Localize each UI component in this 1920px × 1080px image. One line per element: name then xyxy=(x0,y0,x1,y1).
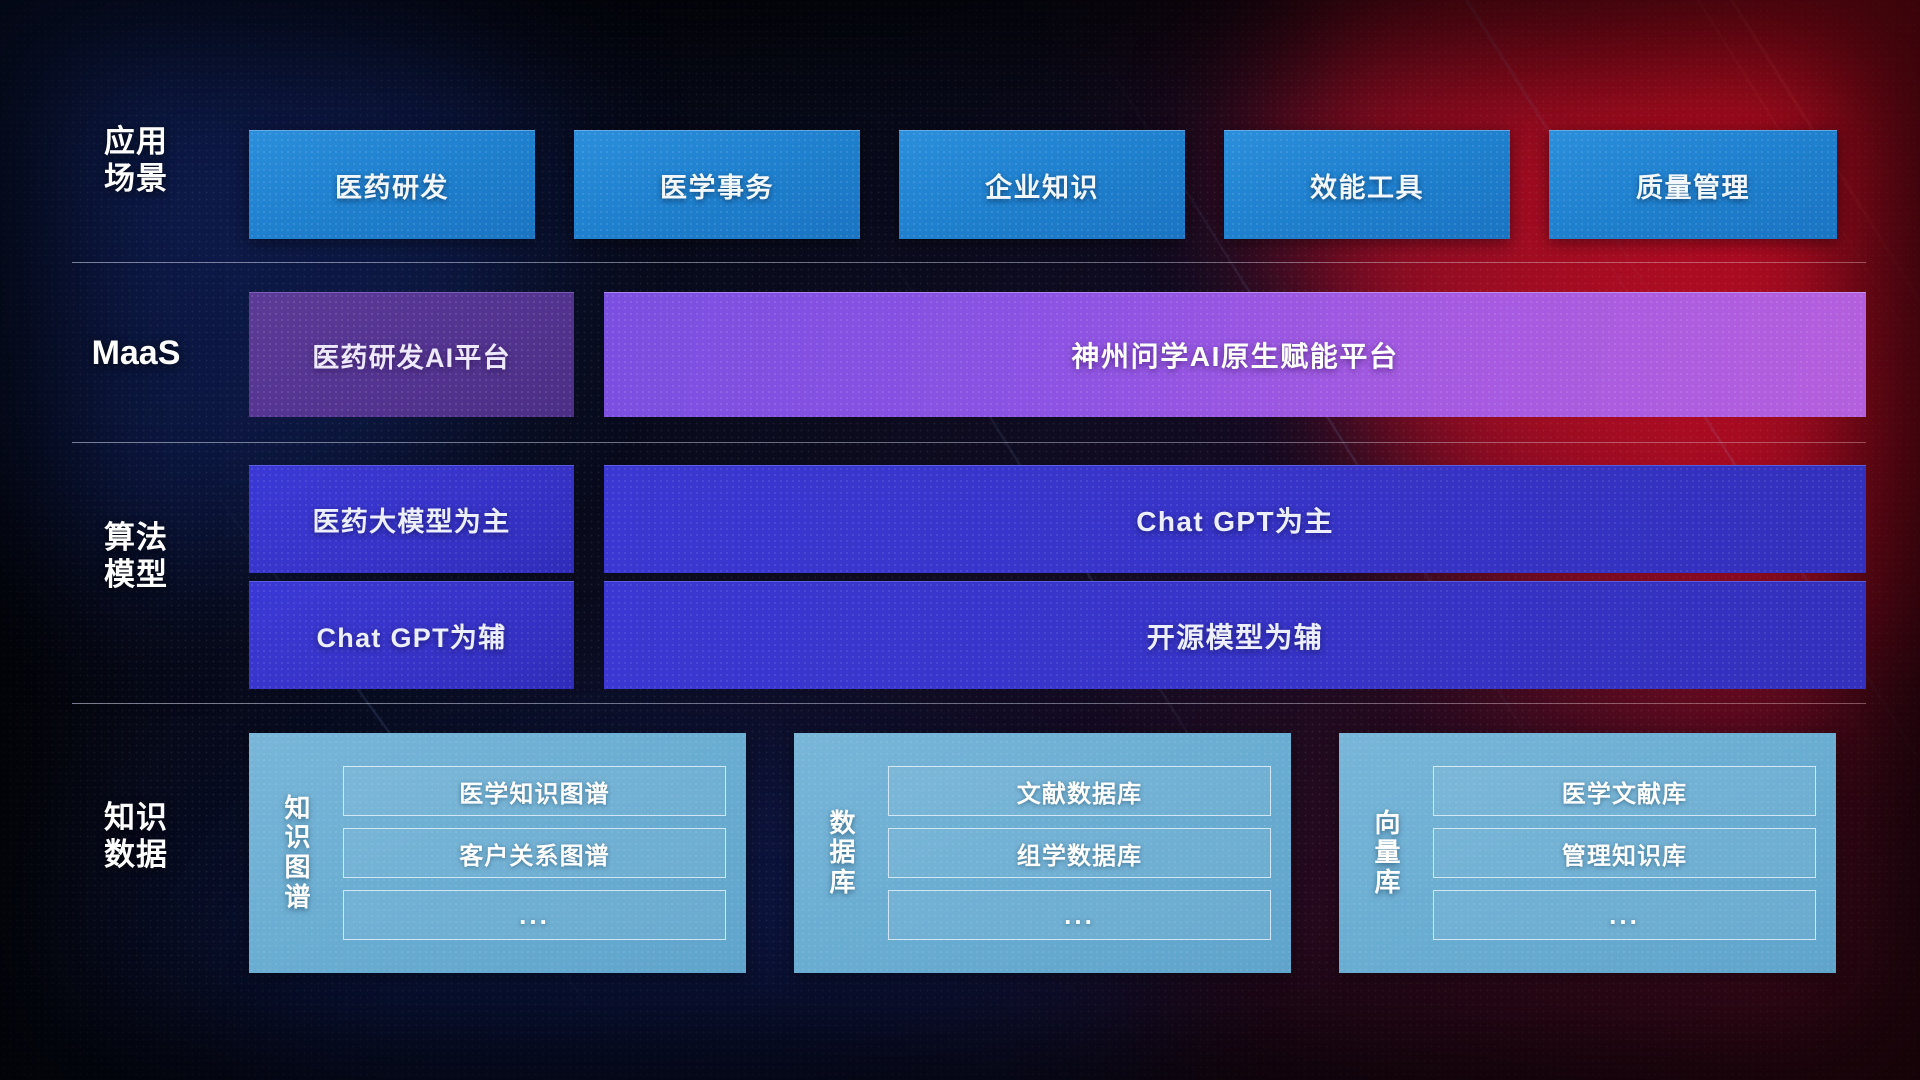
knowledge-item[interactable]: 文献数据库 xyxy=(888,766,1271,816)
algo-bar-1-right-label: 开源模型为辅 xyxy=(1147,616,1323,656)
maas-card-left[interactable]: 医药研发AI平台 xyxy=(249,292,574,417)
maas-card-right[interactable]: 神州问学AI原生赋能平台 xyxy=(604,292,1866,417)
row-label-application-line-2: 场景 xyxy=(70,161,202,198)
knowledge-block-2-title-line-0: 向 xyxy=(1351,809,1425,839)
knowledge-block-0-title-line-2: 图 xyxy=(261,853,335,883)
knowledge-block-1-title-line-0: 数 xyxy=(806,809,880,839)
row-label-knowledge-line-1: 知识 xyxy=(70,800,202,837)
knowledge-item[interactable]: 医学知识图谱 xyxy=(343,766,726,816)
row-label-maas-text: MaaS xyxy=(70,333,202,373)
knowledge-block-1-title-line-2: 库 xyxy=(806,868,880,898)
row-label-algorithm-line-1: 算法 xyxy=(70,520,202,557)
app-card-3[interactable]: 效能工具 xyxy=(1224,130,1510,239)
row-label-algorithm: 算法 模型 xyxy=(70,520,202,593)
knowledge-item[interactable]: 组学数据库 xyxy=(888,828,1271,878)
app-card-label-0: 医药研发 xyxy=(335,166,449,205)
knowledge-block-1-title: 数 据 库 xyxy=(806,809,880,898)
app-card-label-4: 质量管理 xyxy=(1636,166,1750,205)
app-card-0[interactable]: 医药研发 xyxy=(249,130,535,239)
knowledge-block-2-title-line-1: 量 xyxy=(1351,838,1425,868)
knowledge-block-2-items: 医学文献库 管理知识库 ... xyxy=(1425,748,1836,958)
knowledge-item[interactable]: 客户关系图谱 xyxy=(343,828,726,878)
knowledge-block-2[interactable]: 向 量 库 医学文献库 管理知识库 ... xyxy=(1339,733,1836,973)
row-label-maas: MaaS xyxy=(70,333,202,373)
knowledge-block-0-title-line-1: 识 xyxy=(261,823,335,853)
row-divider-1 xyxy=(72,262,1866,263)
row-label-knowledge-line-2: 数据 xyxy=(70,837,202,874)
architecture-diagram: 应用 场景 医药研发 医学事务 企业知识 效能工具 质量管理 MaaS 医药研发… xyxy=(0,0,1920,1080)
row-label-application: 应用 场景 xyxy=(70,124,202,197)
row-label-application-line-1: 应用 xyxy=(70,124,202,161)
app-card-1[interactable]: 医学事务 xyxy=(574,130,860,239)
knowledge-item[interactable]: 医学文献库 xyxy=(1433,766,1816,816)
algo-bar-1-left-label: Chat GPT为辅 xyxy=(316,616,506,655)
row-label-algorithm-line-2: 模型 xyxy=(70,557,202,594)
algo-bar-0-right-label: Chat GPT为主 xyxy=(1136,500,1334,540)
app-card-label-3: 效能工具 xyxy=(1310,166,1424,205)
maas-card-left-label: 医药研发AI平台 xyxy=(312,336,511,375)
algo-bar-1-left[interactable]: Chat GPT为辅 xyxy=(249,581,574,689)
knowledge-block-0-title-line-0: 知 xyxy=(261,794,335,824)
knowledge-block-1-items: 文献数据库 组学数据库 ... xyxy=(880,748,1291,958)
knowledge-block-0-title: 知 识 图 谱 xyxy=(261,794,335,913)
knowledge-block-1[interactable]: 数 据 库 文献数据库 组学数据库 ... xyxy=(794,733,1291,973)
knowledge-item-more[interactable]: ... xyxy=(343,890,726,940)
knowledge-item[interactable]: 管理知识库 xyxy=(1433,828,1816,878)
maas-card-right-label: 神州问学AI原生赋能平台 xyxy=(1071,335,1398,375)
row-label-knowledge: 知识 数据 xyxy=(70,800,202,873)
app-card-4[interactable]: 质量管理 xyxy=(1549,130,1837,239)
knowledge-block-2-title-line-2: 库 xyxy=(1351,868,1425,898)
row-divider-2 xyxy=(72,442,1866,443)
app-card-label-1: 医学事务 xyxy=(660,166,774,205)
knowledge-block-1-title-line-1: 据 xyxy=(806,838,880,868)
knowledge-block-0-items: 医学知识图谱 客户关系图谱 ... xyxy=(335,748,746,958)
knowledge-block-0[interactable]: 知 识 图 谱 医学知识图谱 客户关系图谱 ... xyxy=(249,733,746,973)
row-divider-3 xyxy=(72,703,1866,704)
algo-bar-0-left[interactable]: 医药大模型为主 xyxy=(249,465,574,573)
knowledge-block-0-title-line-3: 谱 xyxy=(261,883,335,913)
algo-bar-0-right[interactable]: Chat GPT为主 xyxy=(604,465,1866,573)
knowledge-item-more[interactable]: ... xyxy=(888,890,1271,940)
algo-bar-0-left-label: 医药大模型为主 xyxy=(312,500,510,539)
algo-bar-1-right[interactable]: 开源模型为辅 xyxy=(604,581,1866,689)
knowledge-item-more[interactable]: ... xyxy=(1433,890,1816,940)
knowledge-block-2-title: 向 量 库 xyxy=(1351,809,1425,898)
app-card-label-2: 企业知识 xyxy=(985,166,1099,205)
app-card-2[interactable]: 企业知识 xyxy=(899,130,1185,239)
